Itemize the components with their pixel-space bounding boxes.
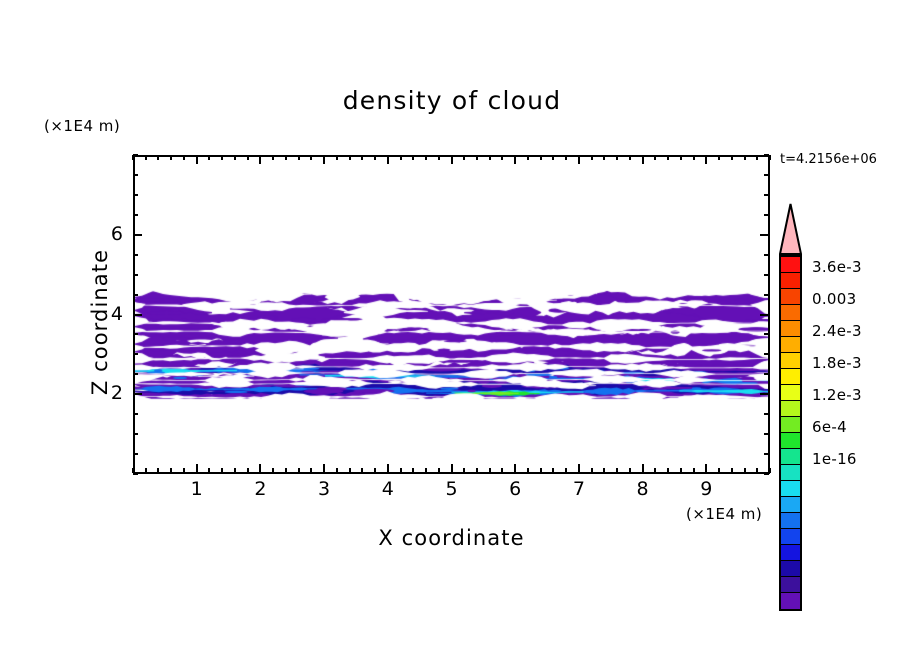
x-tick-major	[578, 155, 580, 164]
x-tick-minor	[208, 155, 210, 160]
colorbar-segment	[781, 465, 800, 481]
x-tick-major	[387, 155, 389, 164]
x-tick-minor	[208, 468, 210, 473]
x-tick-minor	[400, 468, 402, 473]
colorbar-tick-label: 1e-16	[812, 450, 857, 468]
y-tick-minor	[133, 214, 138, 216]
x-tick-major	[451, 464, 453, 473]
x-tick-minor	[501, 155, 503, 160]
x-tick-label: 3	[304, 478, 344, 500]
x-tick-minor	[183, 468, 185, 473]
x-axis-title: X coordinate	[133, 526, 770, 550]
x-tick-minor	[336, 155, 338, 160]
x-tick-minor	[629, 155, 631, 160]
colorbar-segment	[781, 337, 800, 353]
x-tick-minor	[667, 155, 669, 160]
colorbar-tick-label: 2.4e-3	[812, 322, 862, 340]
x-tick-minor	[438, 468, 440, 473]
x-tick-minor	[629, 468, 631, 473]
x-tick-minor	[298, 468, 300, 473]
x-tick-minor	[744, 468, 746, 473]
colorbar-segment	[781, 433, 800, 449]
x-tick-minor	[234, 155, 236, 160]
y-tick-minor	[764, 453, 769, 455]
y-axis-unit-label: (×1E4 m)	[44, 117, 120, 135]
x-tick-label: 1	[177, 478, 217, 500]
y-tick-major	[760, 314, 769, 316]
colorbar-segment	[781, 513, 800, 529]
x-tick-minor	[591, 155, 593, 160]
y-tick-minor	[764, 413, 769, 415]
x-tick-minor	[463, 155, 465, 160]
x-tick-minor	[603, 468, 605, 473]
x-tick-minor	[247, 468, 249, 473]
y-tick-minor	[133, 174, 138, 176]
x-tick-minor	[476, 155, 478, 160]
x-tick-minor	[756, 155, 758, 160]
figure-canvas: density of cloud (×1E4 m) t=4.2156e+06 1…	[0, 0, 904, 654]
colorbar-tick-label: 0.003	[812, 290, 856, 308]
x-tick-minor	[145, 468, 147, 473]
x-tick-minor	[769, 468, 771, 473]
x-tick-minor	[285, 155, 287, 160]
x-tick-minor	[463, 468, 465, 473]
x-tick-minor	[145, 155, 147, 160]
x-tick-minor	[667, 468, 669, 473]
colorbar-segment	[781, 369, 800, 385]
colorbar-segment	[781, 545, 800, 561]
x-tick-minor	[170, 468, 172, 473]
x-tick-label: 5	[432, 478, 472, 500]
colorbar-segment	[781, 577, 800, 593]
x-tick-major	[451, 155, 453, 164]
x-tick-major	[323, 155, 325, 164]
colorbar-segment	[781, 305, 800, 321]
x-tick-minor	[310, 468, 312, 473]
colorbar-tick-label: 3.6e-3	[812, 258, 862, 276]
x-tick-minor	[591, 468, 593, 473]
x-tick-minor	[731, 468, 733, 473]
x-tick-minor	[221, 468, 223, 473]
colorbar-segment	[781, 385, 800, 401]
x-tick-major	[259, 464, 261, 473]
colorbar-segment	[781, 561, 800, 577]
x-tick-minor	[552, 155, 554, 160]
x-tick-label: 6	[495, 478, 535, 500]
x-tick-minor	[298, 155, 300, 160]
x-tick-minor	[527, 155, 529, 160]
colorbar-segment	[781, 353, 800, 369]
x-tick-label: 9	[686, 478, 726, 500]
x-tick-minor	[565, 155, 567, 160]
x-tick-major	[196, 464, 198, 473]
colorbar-tick-label: 1.2e-3	[812, 386, 862, 404]
x-tick-minor	[170, 155, 172, 160]
colorbar-segment	[781, 321, 800, 337]
plot-area	[133, 155, 770, 474]
y-tick-major	[760, 234, 769, 236]
colorbar-segment	[781, 449, 800, 465]
x-tick-major	[323, 464, 325, 473]
x-axis-unit-label: (×1E4 m)	[686, 505, 762, 523]
x-tick-minor	[183, 155, 185, 160]
contour-field	[135, 157, 768, 472]
y-tick-minor	[764, 254, 769, 256]
x-tick-minor	[157, 468, 159, 473]
y-tick-minor	[133, 473, 138, 475]
x-tick-label: 2	[240, 478, 280, 500]
x-tick-minor	[336, 468, 338, 473]
x-tick-major	[259, 155, 261, 164]
x-tick-minor	[272, 468, 274, 473]
x-tick-minor	[221, 155, 223, 160]
y-tick-minor	[764, 174, 769, 176]
x-tick-label: 7	[559, 478, 599, 500]
x-tick-minor	[476, 468, 478, 473]
x-tick-minor	[489, 468, 491, 473]
x-tick-minor	[693, 155, 695, 160]
colorbar-segment	[781, 417, 800, 433]
x-tick-minor	[680, 155, 682, 160]
x-tick-minor	[374, 468, 376, 473]
x-tick-minor	[272, 155, 274, 160]
y-tick-minor	[133, 353, 138, 355]
x-tick-major	[642, 155, 644, 164]
y-tick-minor	[133, 194, 138, 196]
y-tick-minor	[764, 214, 769, 216]
x-tick-minor	[285, 468, 287, 473]
y-tick-minor	[133, 453, 138, 455]
colorbar	[779, 203, 802, 611]
x-tick-minor	[756, 468, 758, 473]
x-tick-minor	[731, 155, 733, 160]
x-tick-minor	[425, 468, 427, 473]
y-tick-minor	[133, 274, 138, 276]
colorbar-tick-label: 6e-4	[812, 418, 847, 436]
x-tick-minor	[565, 468, 567, 473]
y-tick-minor	[764, 294, 769, 296]
y-axis-title: Z coordinate	[88, 202, 112, 442]
x-tick-minor	[349, 468, 351, 473]
x-tick-minor	[157, 155, 159, 160]
colorbar-segments	[779, 255, 802, 611]
x-tick-minor	[361, 155, 363, 160]
colorbar-over-arrow-icon	[779, 203, 802, 255]
x-tick-label: 4	[368, 478, 408, 500]
colorbar-segment	[781, 481, 800, 497]
x-tick-major	[514, 155, 516, 164]
y-tick-minor	[133, 373, 138, 375]
x-tick-major	[705, 464, 707, 473]
x-tick-minor	[489, 155, 491, 160]
y-tick-minor	[764, 353, 769, 355]
time-annotation: t=4.2156e+06	[780, 152, 877, 167]
x-tick-minor	[769, 155, 771, 160]
x-tick-minor	[540, 468, 542, 473]
colorbar-segment	[781, 401, 800, 417]
x-tick-minor	[552, 468, 554, 473]
y-tick-minor	[133, 294, 138, 296]
x-tick-minor	[374, 155, 376, 160]
x-tick-major	[514, 464, 516, 473]
colorbar-segment	[781, 273, 800, 289]
x-tick-minor	[693, 468, 695, 473]
y-tick-minor	[133, 254, 138, 256]
x-tick-minor	[616, 155, 618, 160]
x-tick-minor	[654, 468, 656, 473]
x-tick-minor	[527, 468, 529, 473]
x-tick-major	[196, 155, 198, 164]
x-tick-minor	[247, 155, 249, 160]
y-tick-minor	[133, 413, 138, 415]
y-tick-minor	[764, 154, 769, 156]
x-tick-major	[642, 464, 644, 473]
x-tick-minor	[438, 155, 440, 160]
colorbar-segment	[781, 257, 800, 273]
colorbar-segment	[781, 289, 800, 305]
y-tick-minor	[764, 194, 769, 196]
x-tick-minor	[718, 155, 720, 160]
x-tick-minor	[718, 468, 720, 473]
y-tick-minor	[764, 373, 769, 375]
x-tick-minor	[349, 155, 351, 160]
page-title: density of cloud	[0, 86, 904, 115]
x-tick-major	[705, 155, 707, 164]
x-tick-minor	[540, 155, 542, 160]
y-tick-minor	[133, 433, 138, 435]
y-tick-minor	[133, 333, 138, 335]
x-tick-minor	[412, 155, 414, 160]
x-tick-minor	[616, 468, 618, 473]
x-tick-minor	[654, 155, 656, 160]
y-tick-minor	[133, 154, 138, 156]
y-tick-major	[133, 234, 142, 236]
colorbar-segment	[781, 497, 800, 513]
x-tick-minor	[744, 155, 746, 160]
x-tick-minor	[361, 468, 363, 473]
y-tick-minor	[764, 433, 769, 435]
x-tick-minor	[234, 468, 236, 473]
x-tick-minor	[603, 155, 605, 160]
y-tick-minor	[764, 473, 769, 475]
y-tick-major	[133, 393, 142, 395]
x-tick-major	[578, 464, 580, 473]
x-tick-label: 8	[623, 478, 663, 500]
y-tick-major	[760, 393, 769, 395]
x-tick-major	[387, 464, 389, 473]
x-tick-minor	[425, 155, 427, 160]
x-tick-minor	[501, 468, 503, 473]
x-tick-minor	[680, 468, 682, 473]
y-tick-major	[133, 314, 142, 316]
x-tick-minor	[400, 155, 402, 160]
x-tick-minor	[310, 155, 312, 160]
colorbar-segment	[781, 529, 800, 545]
y-tick-minor	[764, 274, 769, 276]
colorbar-segment	[781, 593, 800, 609]
x-tick-minor	[412, 468, 414, 473]
colorbar-tick-label: 1.8e-3	[812, 354, 862, 372]
y-tick-minor	[764, 333, 769, 335]
